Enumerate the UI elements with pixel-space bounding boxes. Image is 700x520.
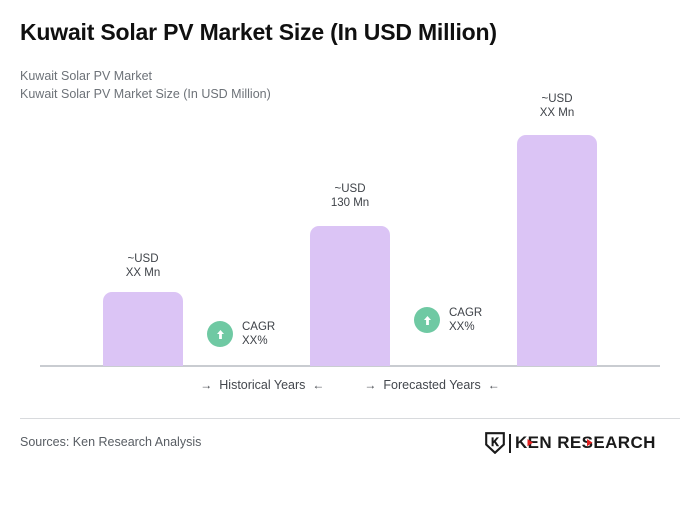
bar-value-label-1: ~USD XX Mn — [103, 252, 183, 280]
bar-forecasted-3[interactable] — [517, 135, 597, 366]
bar-value-label-3-line1: ~USD — [517, 92, 597, 106]
cagr-badge-1-text: CAGR XX% — [242, 320, 275, 348]
legend-item-historical[interactable]: → Historical Years ← — [200, 378, 324, 392]
chart-card: Kuwait Solar PV Market Size (In USD Mill… — [0, 0, 700, 520]
logo-divider — [509, 434, 511, 453]
bar-value-label-1-line1: ~USD — [103, 252, 183, 266]
bar-historical-1[interactable] — [103, 292, 183, 366]
arrow-left-icon: ← — [488, 379, 500, 391]
bar-value-label-3-line2: XX Mn — [517, 106, 597, 120]
bar-value-label-2-line1: ~USD — [310, 182, 390, 196]
arrow-up-icon — [414, 307, 440, 333]
sources-text: Sources: Ken Research Analysis — [20, 435, 201, 449]
arrow-left-icon: ← — [312, 379, 324, 391]
arrow-up-icon — [207, 321, 233, 347]
svg-text:KEN RESEARCH: KEN RESEARCH — [515, 433, 656, 452]
bar-value-label-2: ~USD 130 Mn — [310, 182, 390, 210]
arrow-right-icon: → — [200, 379, 212, 391]
logo-wordmark: KEN RESEARCH — [515, 433, 673, 453]
bar-value-label-3: ~USD XX Mn — [517, 92, 597, 120]
arrow-right-icon: → — [364, 379, 376, 391]
legend-label-historical: Historical Years — [219, 378, 305, 392]
bar-value-label-2-line2: 130 Mn — [310, 196, 390, 210]
cagr-badge-2-text: CAGR XX% — [449, 306, 482, 334]
cagr-badge-1-line1: CAGR — [242, 320, 275, 334]
shield-logo-icon — [485, 432, 505, 454]
ken-research-logo: KEN RESEARCH — [485, 432, 673, 454]
cagr-badge-2-line1: CAGR — [449, 306, 482, 320]
legend-label-forecasted: Forecasted Years — [383, 378, 480, 392]
cagr-badge-1[interactable]: CAGR XX% — [207, 320, 275, 348]
cagr-badge-2[interactable]: CAGR XX% — [414, 306, 482, 334]
footer-divider — [20, 418, 680, 419]
period-legend: → Historical Years ← → Forecasted Years … — [0, 378, 700, 392]
cagr-badge-2-line2: XX% — [449, 320, 482, 334]
bar-historical-2[interactable] — [310, 226, 390, 366]
plot-area: ~USD XX Mn CAGR XX% ~USD 130 Mn — [0, 0, 700, 400]
bar-value-label-1-line2: XX Mn — [103, 266, 183, 280]
legend-item-forecasted[interactable]: → Forecasted Years ← — [364, 378, 499, 392]
cagr-badge-1-line2: XX% — [242, 334, 275, 348]
